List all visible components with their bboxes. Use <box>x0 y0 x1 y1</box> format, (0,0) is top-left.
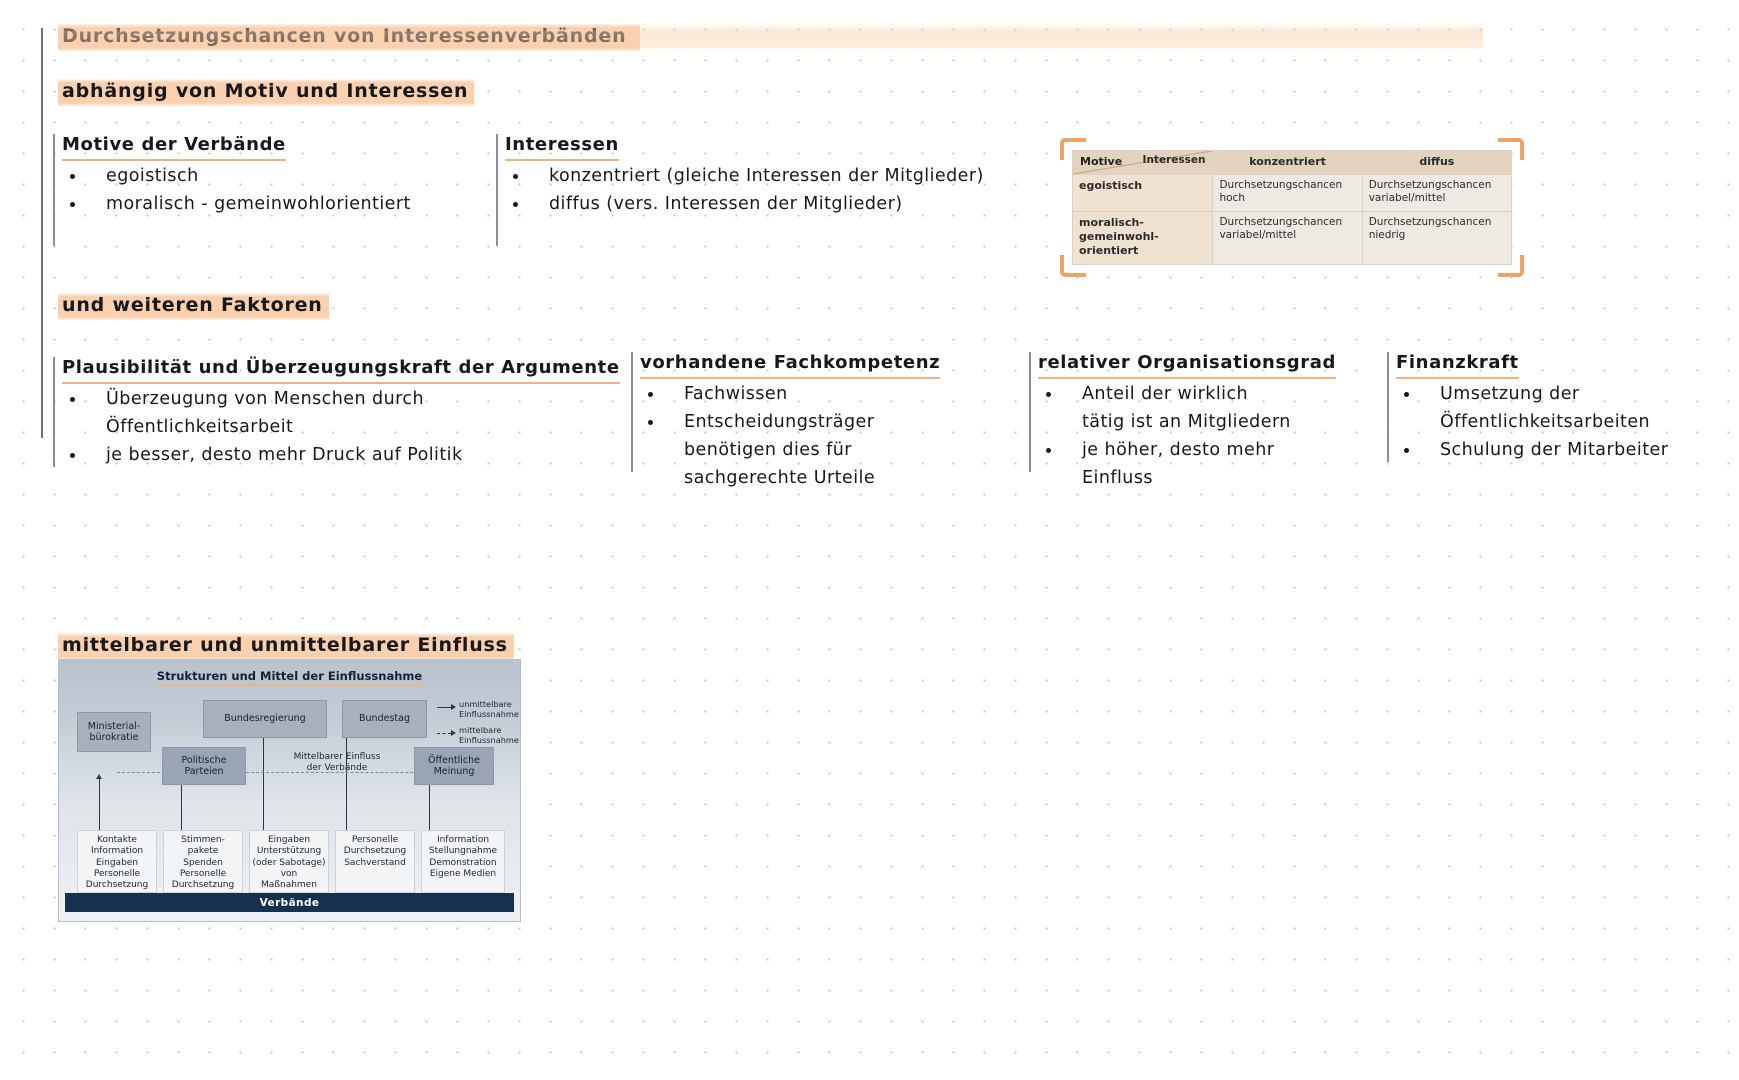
list-interessen: konzentriert (gleiche Interessen der Mit… <box>505 162 984 218</box>
diagram-title: Strukturen und Mittel der Einflussnahme <box>59 669 520 683</box>
diagram-box-bundestag: Bundestag <box>342 700 427 738</box>
list-item: je besser, desto mehr Druck auf Politik <box>62 441 463 469</box>
box-label: Bundesregierung <box>224 713 305 724</box>
list-motive-der-verbaende: egoistisch moralisch - gemeinwohlorienti… <box>62 162 411 218</box>
list-item: Öffentlichkeitsarbeit <box>62 413 463 441</box>
column-title-interessen: Interessen <box>505 134 619 161</box>
column-title-motive-der-verbaende: Motive der Verbände <box>62 134 286 161</box>
connector-line <box>181 778 182 830</box>
table-row-header: egoistisch <box>1073 174 1213 211</box>
table-cell: Durchsetzungschancen niedrig <box>1362 211 1511 264</box>
section-heading-motiv-interessen: abhängig von Motiv und Interessen <box>58 79 474 106</box>
diagram-means-box-personelle: Personelle Durchsetzung Sachverstand <box>335 830 415 893</box>
box-label: Kontakte Information Eingaben Personelle… <box>86 835 148 891</box>
table-row: egoistisch Durchsetzungschancen hoch Dur… <box>1073 174 1512 211</box>
list-item: Öffentlichkeitsarbeiten <box>1396 408 1668 436</box>
legend-solid-arrow-icon <box>451 704 456 710</box>
footer-text: Verbände <box>260 897 320 909</box>
table-row: moralisch- gemeinwohl-orientiert Durchse… <box>1073 211 1512 264</box>
matrix-col-axis-label: Interessen <box>1143 154 1206 167</box>
column-rule-fachkompetenz <box>631 352 633 472</box>
box-label: Stimmen- pakete Spenden Personelle Durch… <box>172 835 234 891</box>
column-title-fachkompetenz: vorhandene Fachkompetenz <box>640 352 940 379</box>
column-rule-organisationsgrad <box>1029 352 1031 472</box>
diagram-means-box-kontakte: Kontakte Information Eingaben Personelle… <box>77 830 157 893</box>
box-label: Ministerial- bürokratie <box>88 721 140 744</box>
caption-text: Mittelbarer Einfluss der Verbände <box>294 752 381 773</box>
legend-label-mittelbare: mittelbare Einflussnahme <box>459 726 521 746</box>
table-col-header: diffus <box>1362 151 1511 175</box>
bracket-top-right-icon <box>1498 138 1524 160</box>
diagram-footer-verbaende: Verbände <box>65 893 514 912</box>
box-label: Personelle Durchsetzung Sachverstand <box>344 835 406 869</box>
list-item: Einfluss <box>1038 464 1291 492</box>
legend-label-unmittelbare: unmittelbare Einflussnahme <box>459 700 521 720</box>
list-item: sachgerechte Urteile <box>640 464 875 492</box>
list-item: egoistisch <box>62 162 411 190</box>
column-rule-interessen <box>496 134 498 246</box>
arrow-head-icon <box>96 774 102 779</box>
list-item: Schulung der Mitarbeiter <box>1396 436 1668 464</box>
section-heading-mittelbarer-einfluss: mittelbarer und unmittelbarer Einfluss <box>58 633 514 660</box>
box-label: Information Stellungnahme Demonstration … <box>429 835 497 880</box>
list-organisationsgrad: Anteil der wirklich tätig ist an Mitglie… <box>1038 380 1291 492</box>
connector-line <box>99 778 100 830</box>
left-margin-rule <box>41 28 43 438</box>
diagram-means-box-eingaben: Eingaben Unterstützung (oder Sabotage) v… <box>249 830 329 893</box>
list-item: Fachwissen <box>640 380 875 408</box>
list-item: moralisch - gemeinwohlorientiert <box>62 190 411 218</box>
list-item: Anteil der wirklich <box>1038 380 1291 408</box>
column-rule-finanzkraft <box>1387 352 1389 462</box>
column-title-plausibilitaet: Plausibilität und Überzeugungskraft der … <box>62 357 620 384</box>
table-corner-cell: Interessen Motive <box>1073 151 1213 175</box>
legend-dashed-line-icon <box>437 733 451 734</box>
box-label: Eingaben Unterstützung (oder Sabotage) v… <box>252 835 325 891</box>
column-rule-plausibilitaet <box>53 357 55 467</box>
matrix-table: Interessen Motive konzentriert diffus eg… <box>1072 150 1512 265</box>
diagram-box-bundesregierung: Bundesregierung <box>203 700 327 738</box>
legend-text: mittelbare Einflussnahme <box>459 725 519 745</box>
bracket-bottom-right-icon <box>1498 255 1524 277</box>
table-cell: Durchsetzungschancen variabel/mittel <box>1362 174 1511 211</box>
list-item: Entscheidungsträger <box>640 408 875 436</box>
legend-dashed-arrow-icon <box>451 730 456 736</box>
einflussnahme-diagram-figure: Strukturen und Mittel der Einflussnahme … <box>58 659 521 922</box>
list-item: konzentriert (gleiche Interessen der Mit… <box>505 162 984 190</box>
list-item: je höher, desto mehr <box>1038 436 1291 464</box>
box-label: Politische Parteien <box>182 755 227 778</box>
table-cell: Durchsetzungschancen hoch <box>1213 174 1362 211</box>
table-row: Interessen Motive konzentriert diffus <box>1073 151 1512 175</box>
table-row-header: moralisch- gemeinwohl-orientiert <box>1073 211 1213 264</box>
list-item: Überzeugung von Menschen durch <box>62 385 463 413</box>
list-fachkompetenz: Fachwissen Entscheidungsträger benötigen… <box>640 380 875 492</box>
diagram-means-box-information: Information Stellungnahme Demonstration … <box>421 830 505 893</box>
column-title-organisationsgrad: relativer Organisationsgrad <box>1038 352 1336 379</box>
column-rule-motive <box>53 134 55 246</box>
section-heading-weitere-faktoren: und weiteren Faktoren <box>58 293 329 320</box>
diagram-caption-mittelbarer-einfluss: Mittelbarer Einfluss der Verbände <box>279 752 395 774</box>
column-title-finanzkraft: Finanzkraft <box>1396 352 1519 379</box>
diagram-box-politische-parteien: Politische Parteien <box>162 747 246 785</box>
table-cell: Durchsetzungschancen variabel/mittel <box>1213 211 1362 264</box>
diagram-box-oeffentliche-meinung: Öffentliche Meinung <box>414 747 494 785</box>
legend-solid-line-icon <box>437 707 451 708</box>
box-label: Öffentliche Meinung <box>428 755 480 778</box>
list-item: diffus (vers. Interessen der Mitglieder) <box>505 190 984 218</box>
matrix-table-figure: Interessen Motive konzentriert diffus eg… <box>1072 150 1512 265</box>
matrix-row-axis-label: Motive <box>1080 155 1122 169</box>
diagram-title-text: Strukturen und Mittel der Einflussnahme <box>157 669 422 686</box>
diagram-means-box-stimmenpakete: Stimmen- pakete Spenden Personelle Durch… <box>163 830 243 893</box>
page-title: Durchsetzungschancen von Interessenverbä… <box>58 24 640 51</box>
bracket-bottom-left-icon <box>1060 255 1086 277</box>
list-finanzkraft: Umsetzung der Öffentlichkeitsarbeiten Sc… <box>1396 380 1668 464</box>
list-item: benötigen dies für <box>640 436 875 464</box>
diagram-box-ministerialbuerokratie: Ministerial- bürokratie <box>77 712 151 752</box>
box-label: Bundestag <box>359 713 410 724</box>
list-item: tätig ist an Mitgliedern <box>1038 408 1291 436</box>
table-col-header: konzentriert <box>1213 151 1362 175</box>
list-item: Umsetzung der <box>1396 380 1668 408</box>
connector-line <box>429 778 430 830</box>
legend-text: unmittelbare Einflussnahme <box>459 699 519 719</box>
list-plausibilitaet: Überzeugung von Menschen durch Öffentlic… <box>62 385 463 469</box>
